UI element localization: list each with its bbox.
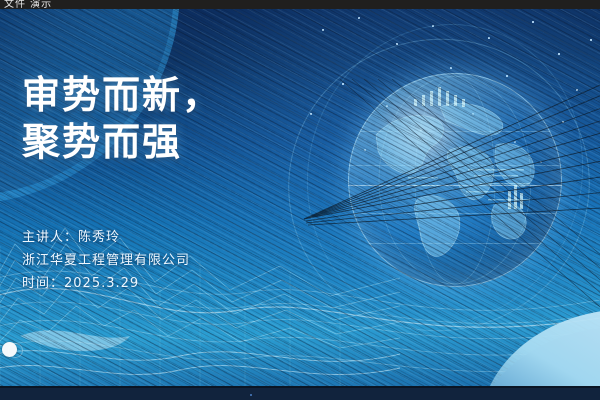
company-line: 浙江华夏工程管理有限公司	[22, 249, 190, 272]
slide-title: 审势而新， 聚势而强	[22, 72, 222, 166]
slide-subtitle-block: 主讲人：陈秀玲 浙江华夏工程管理有限公司 时间：2025.3.29	[22, 226, 190, 295]
menubar-label: 文件 演示	[4, 0, 52, 9]
title-line-2: 聚势而强	[22, 119, 222, 166]
presenter-line: 主讲人：陈秀玲	[22, 226, 190, 249]
cursor-ring	[8, 343, 23, 358]
title-line-1: 审势而新，	[22, 72, 222, 119]
mouse-cursor	[2, 342, 17, 357]
application-menubar[interactable]: 文件 演示	[0, 0, 600, 9]
bottom-bar	[0, 386, 600, 400]
bottom-bar-separator	[0, 386, 600, 388]
diagonal-overlay	[0, 9, 600, 386]
bottom-bar-dot	[250, 394, 252, 396]
slide-canvas[interactable]: 审势而新， 聚势而强 主讲人：陈秀玲 浙江华夏工程管理有限公司 时间：2025.…	[0, 9, 600, 386]
presentation-window: 文件 演示	[0, 0, 600, 400]
date-line: 时间：2025.3.29	[22, 272, 190, 295]
